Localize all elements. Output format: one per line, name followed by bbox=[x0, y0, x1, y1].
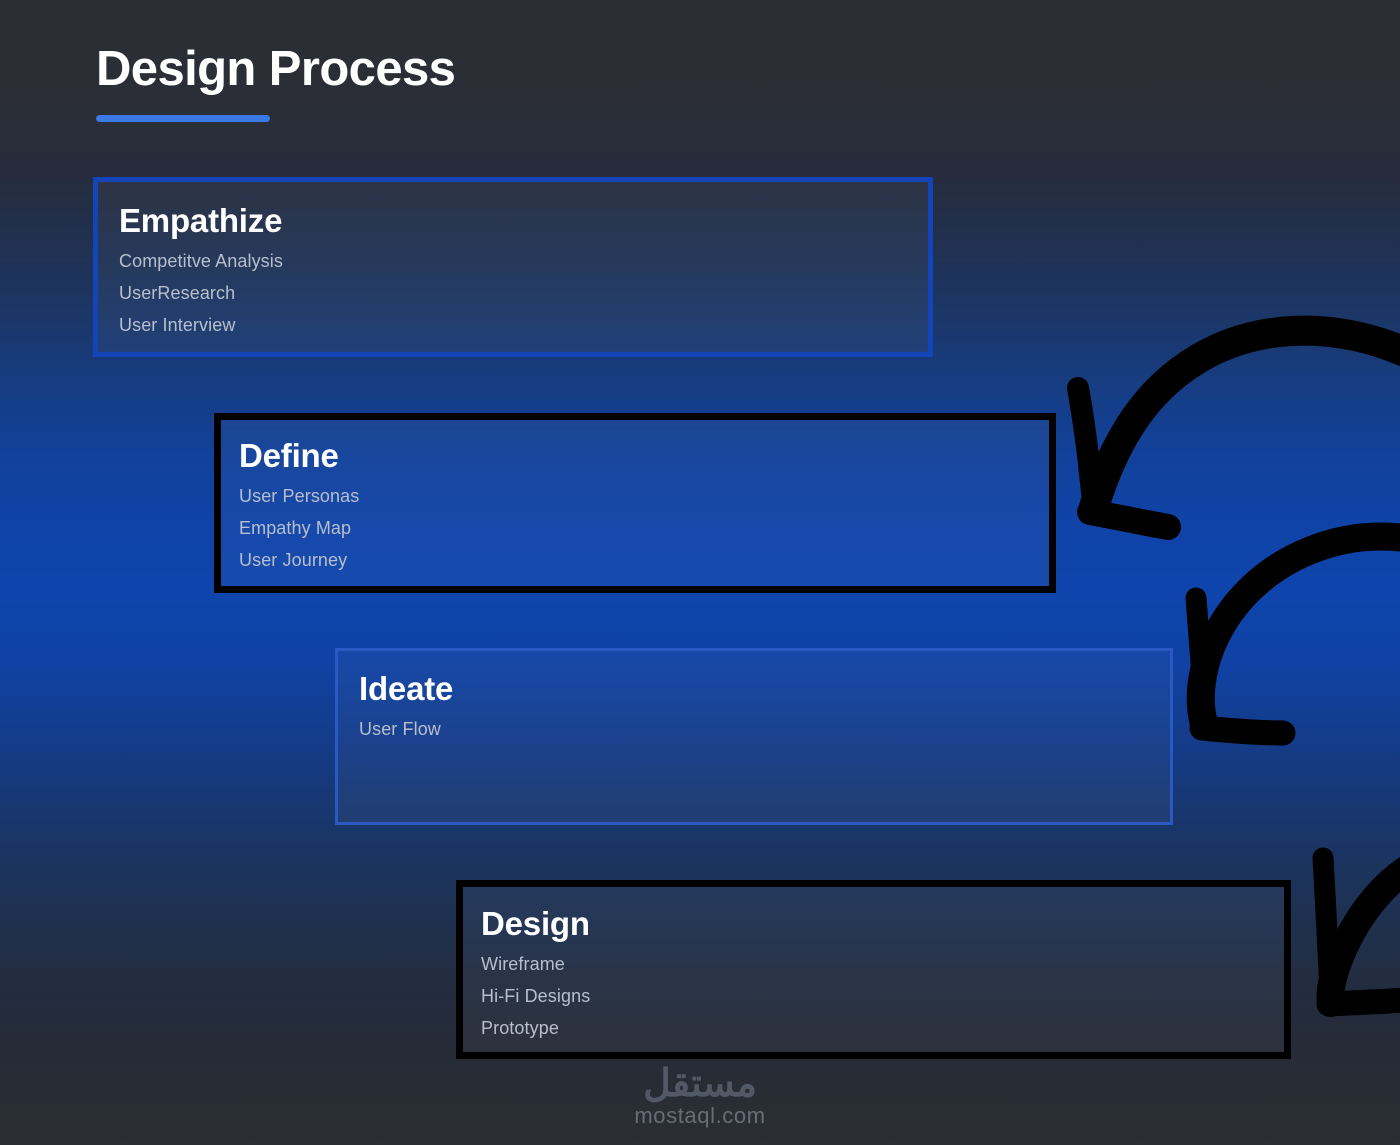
list-item: User Journey bbox=[239, 544, 1049, 576]
page-header: Design Process bbox=[96, 44, 716, 122]
arrow-ideate-to-design bbox=[1323, 858, 1400, 1004]
stage-item-list-design: Wireframe Hi-Fi Designs Prototype bbox=[481, 948, 1284, 1044]
stage-item-list-define: User Personas Empathy Map User Journey bbox=[239, 480, 1049, 576]
watermark: مستقل mostaql.com bbox=[0, 1065, 1400, 1127]
list-item: UserResearch bbox=[119, 277, 928, 309]
list-item: User Personas bbox=[239, 480, 1049, 512]
stage-title-empathize: Empathize bbox=[119, 203, 928, 240]
stage-card-define[interactable]: Define User Personas Empathy Map User Jo… bbox=[214, 413, 1056, 593]
stage-item-list-empathize: Competitve Analysis UserResearch User In… bbox=[119, 245, 928, 341]
stage-title-define: Define bbox=[239, 438, 1049, 475]
watermark-arabic-logo: مستقل bbox=[643, 1065, 757, 1103]
arrow-empathize-to-define bbox=[1078, 331, 1400, 527]
list-item: Empathy Map bbox=[239, 512, 1049, 544]
list-item: User Interview bbox=[119, 309, 928, 341]
stage-card-empathize[interactable]: Empathize Competitve Analysis UserResear… bbox=[93, 177, 933, 357]
arrow-define-to-ideate bbox=[1196, 537, 1400, 733]
list-item: Prototype bbox=[481, 1012, 1284, 1044]
stage-card-design[interactable]: Design Wireframe Hi-Fi Designs Prototype bbox=[456, 880, 1291, 1059]
title-underline-accent bbox=[96, 115, 270, 122]
card-inner: Define User Personas Empathy Map User Jo… bbox=[221, 420, 1049, 576]
stage-card-ideate[interactable]: Ideate User Flow bbox=[335, 648, 1173, 825]
card-inner: Empathize Competitve Analysis UserResear… bbox=[98, 182, 928, 341]
list-item: Wireframe bbox=[481, 948, 1284, 980]
card-inner: Design Wireframe Hi-Fi Designs Prototype bbox=[463, 887, 1284, 1044]
watermark-domain-text: mostaql.com bbox=[634, 1105, 765, 1127]
list-item: User Flow bbox=[359, 713, 1170, 745]
stage-title-design: Design bbox=[481, 906, 1284, 943]
list-item: Hi-Fi Designs bbox=[481, 980, 1284, 1012]
stage-title-ideate: Ideate bbox=[359, 671, 1170, 708]
list-item: Competitve Analysis bbox=[119, 245, 928, 277]
page-title: Design Process bbox=[96, 44, 716, 95]
stage-item-list-ideate: User Flow bbox=[359, 713, 1170, 745]
card-inner: Ideate User Flow bbox=[338, 651, 1170, 745]
